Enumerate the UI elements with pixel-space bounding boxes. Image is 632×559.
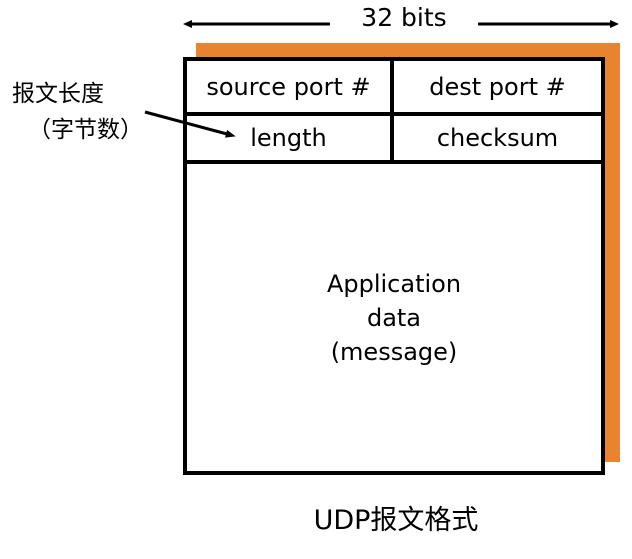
- width-double-arrow-icon: [0, 0, 632, 46]
- packet-row-payload: Application data (message): [187, 164, 601, 471]
- field-checksum: checksum: [394, 116, 601, 160]
- annotation-leader-arrow-icon: [130, 100, 250, 160]
- width-annotation: 32 bits: [0, 0, 632, 46]
- width-label: 32 bits: [330, 3, 478, 33]
- udp-packet-diagram: 32 bits source port # dest port # length…: [0, 0, 632, 559]
- field-dest-port: dest port #: [394, 61, 601, 112]
- diagram-caption: UDP报文格式: [186, 504, 606, 538]
- field-application-data: Application data (message): [327, 267, 461, 369]
- shadow-bar-top: [196, 43, 620, 58]
- shadow-bar-right: [605, 43, 620, 462]
